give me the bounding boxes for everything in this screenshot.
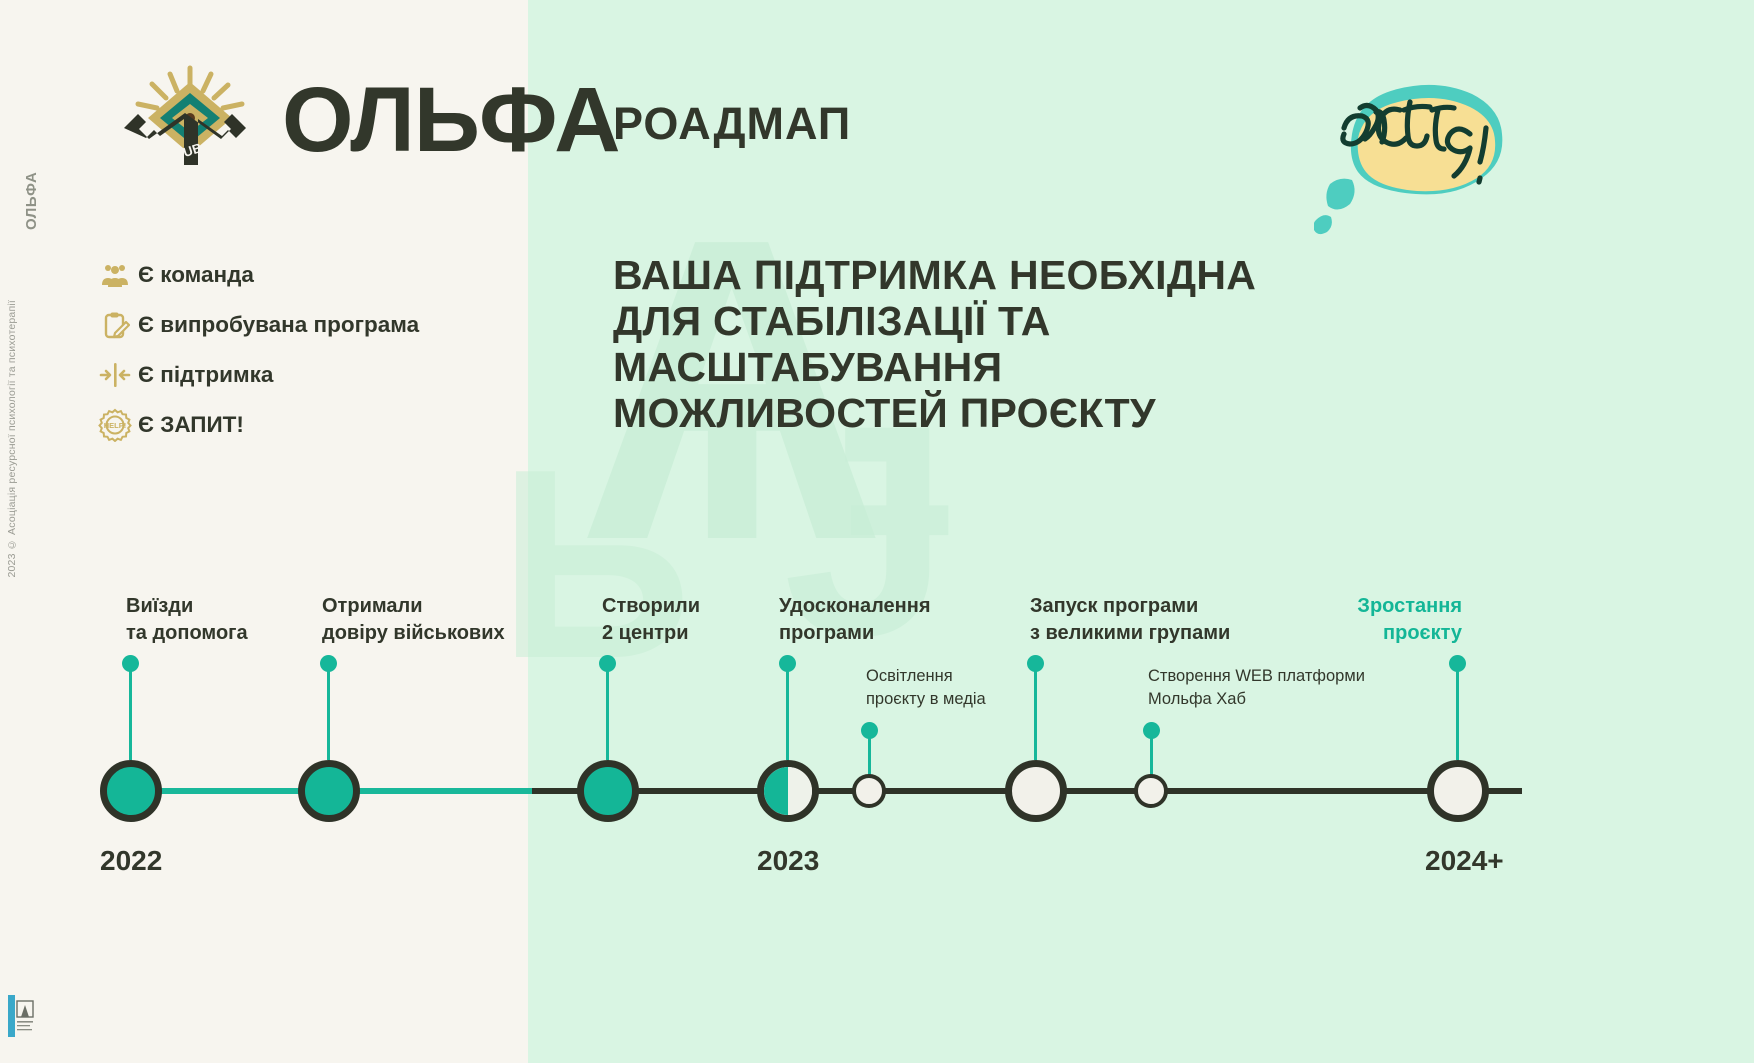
milestone-stem-m1: [129, 668, 132, 760]
milestone-stem-m8: [1456, 668, 1459, 760]
right-panel: Ѧ Ɉ Ь: [528, 0, 1754, 1063]
list-item: Є команда: [92, 250, 419, 300]
list-item-label: Є ЗАПИТ!: [138, 412, 244, 438]
milestone-label-m3: Створили 2 центри: [602, 593, 700, 647]
edge-brand-vertical: ОЛЬФА: [10, 40, 40, 230]
milestone-label-line1: Запуск програми: [1030, 593, 1230, 620]
milestone-label-line2: програми: [779, 620, 931, 647]
brand-wordmark: ОЛЬФА: [282, 74, 620, 166]
milestone-label-line2: та допомога: [126, 620, 248, 647]
milestone-node-m3[interactable]: [577, 760, 639, 822]
milestone-label-line1: Освітлення: [866, 665, 986, 688]
milestone-label-line1: Зростання: [1300, 593, 1462, 620]
year-label-2023: 2023: [757, 845, 819, 877]
milestone-stem-m7: [1150, 735, 1153, 775]
milestone-stem-m3: [606, 668, 609, 760]
clipboard-edit-icon: [92, 310, 138, 340]
help-badge-icon: HELP!: [92, 408, 138, 442]
milestone-label-line1: Створення WEB платформи: [1148, 665, 1365, 688]
milestone-label-line2: проєкту: [1300, 620, 1462, 647]
milestone-label-m6: Запуск програми з великими групами: [1030, 593, 1230, 647]
watermark-letter-b: Ь: [498, 430, 686, 700]
milestone-label-line2: з великими групами: [1030, 620, 1230, 647]
list-item: Є випробувана програма: [92, 300, 419, 350]
edge-credit: 2023 © Асоціація ресурсної психології та…: [6, 300, 26, 940]
page-title: ВАША ПІДТРИМКА НЕОБХІДНА ДЛЯ СТАБІЛІЗАЦІ…: [613, 253, 1313, 437]
year-label-2024p: 2024+: [1425, 845, 1504, 877]
milestone-node-m4[interactable]: [757, 760, 819, 822]
year-label-2022: 2022: [100, 845, 162, 877]
milestone-stem-m4: [786, 668, 789, 760]
support-arrows-icon: [92, 360, 138, 390]
milestone-label-line2: Мольфа Хаб: [1148, 688, 1365, 711]
edge-credit-text: 2023 © Асоціація ресурсної психології та…: [6, 300, 18, 578]
milestone-label-line1: Отримали: [322, 593, 505, 620]
milestone-label-line1: Виїзди: [126, 593, 248, 620]
milestone-label-line2: 2 центри: [602, 620, 700, 647]
feature-list: Є команда Є випробувана програма Є підтр…: [92, 250, 419, 450]
milestone-label-m8: Зростання проєкту: [1300, 593, 1462, 647]
milestone-label-m5: Освітлення проєкту в медіа: [866, 665, 986, 711]
page-kicker: РОАДМАП: [613, 101, 851, 146]
milestone-node-m5[interactable]: [852, 774, 886, 808]
milestone-label-m2: Отримали довіру військових: [322, 593, 505, 647]
milestone-label-line1: Створили: [602, 593, 700, 620]
list-item-label: Є команда: [138, 262, 254, 288]
partner-badge-icon: [8, 995, 34, 1037]
list-item: HELP! Є ЗАПИТ!: [92, 400, 419, 450]
milestone-node-half-fill: [764, 767, 812, 815]
list-item: Є підтримка: [92, 350, 419, 400]
milestone-stem-m5: [868, 735, 871, 775]
milestone-label-m7: Створення WEB платформи Мольфа Хаб: [1148, 665, 1365, 711]
list-item-label: Є підтримка: [138, 362, 273, 388]
team-icon: [92, 260, 138, 290]
milestone-node-m8[interactable]: [1427, 760, 1489, 822]
milestone-node-m2[interactable]: [298, 760, 360, 822]
milestone-label-m4: Удосконалення програми: [779, 593, 931, 647]
milestone-label-line2: довіру військових: [322, 620, 505, 647]
brand-logo: HUB ОЛЬФА: [104, 60, 524, 180]
milestone-node-m1[interactable]: [100, 760, 162, 822]
milestone-node-m6[interactable]: [1005, 760, 1067, 822]
milestone-node-m7[interactable]: [1134, 774, 1168, 808]
milestone-label-m1: Виїзди та допомога: [126, 593, 248, 647]
milestone-stem-m6: [1034, 668, 1037, 760]
edge-brand-text: ОЛЬФА: [23, 172, 40, 230]
milestone-stem-m2: [327, 668, 330, 760]
zhyttya-sticker: [1314, 62, 1524, 237]
list-item-label: Є випробувана програма: [138, 312, 419, 338]
molfa-mark-icon: HUB: [104, 60, 284, 180]
svg-text:HELP!: HELP!: [104, 421, 127, 430]
milestone-label-line2: проєкту в медіа: [866, 688, 986, 711]
milestone-label-line1: Удосконалення: [779, 593, 931, 620]
